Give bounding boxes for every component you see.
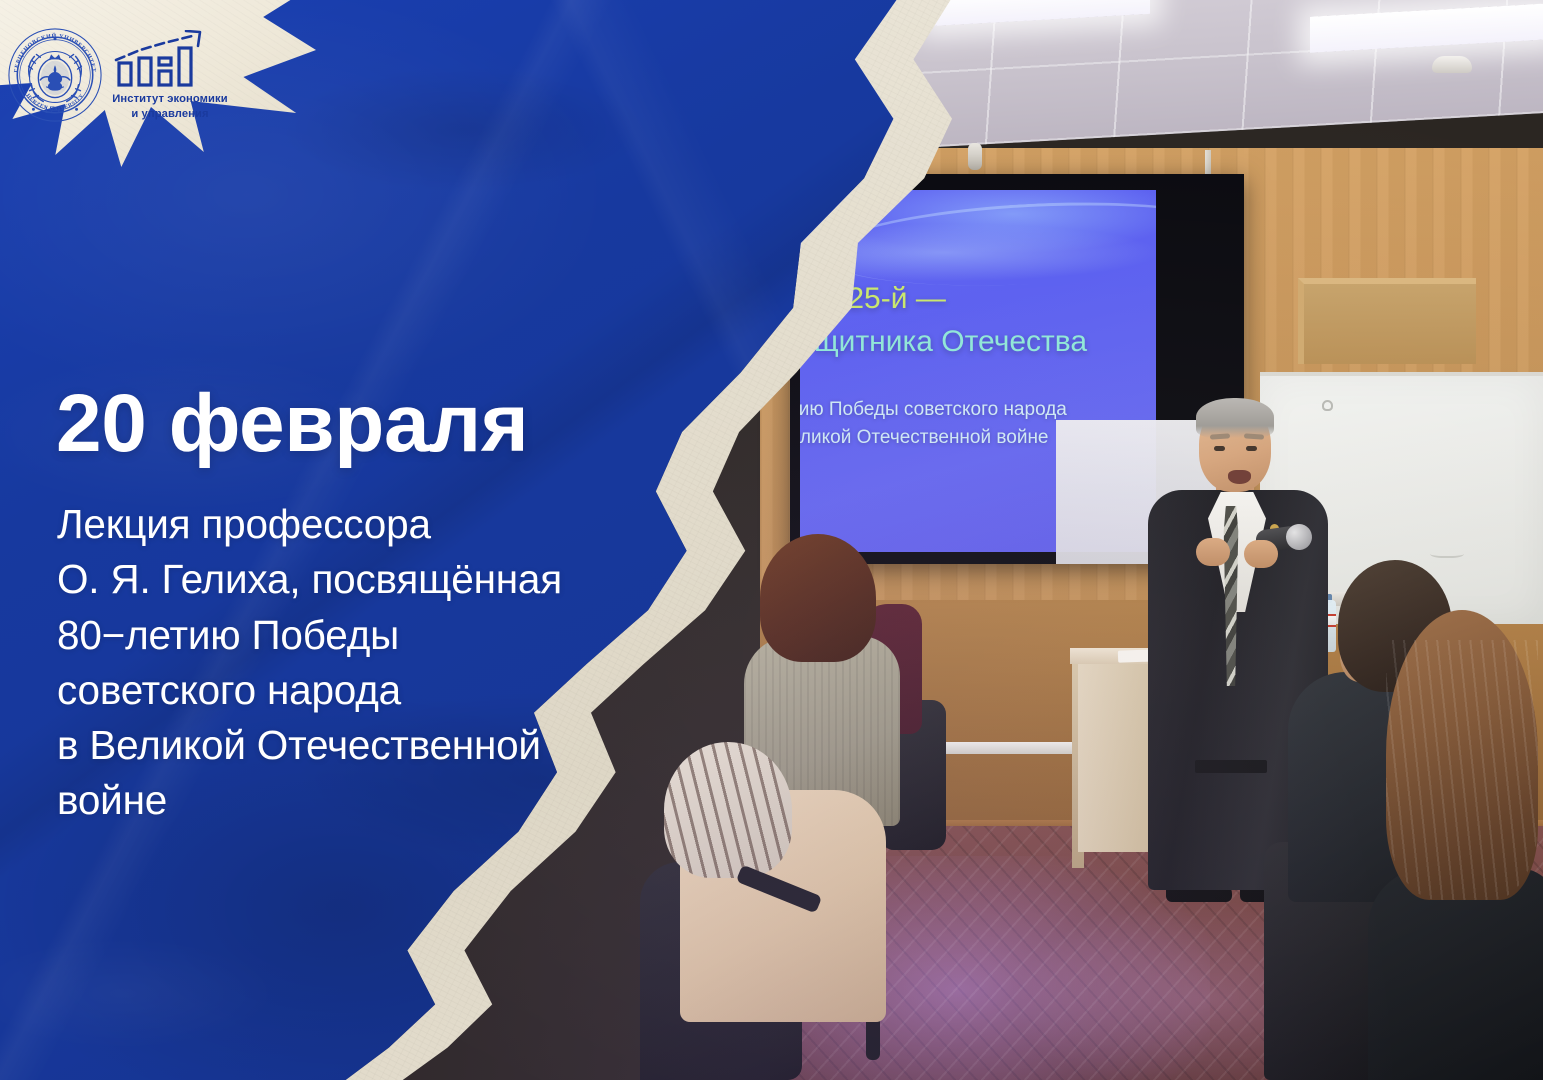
audience-member-head <box>760 534 876 662</box>
whiteboard-smudge <box>1322 400 1333 411</box>
wall-sensor-icon <box>968 143 982 170</box>
speaker-eye <box>1214 446 1225 451</box>
event-description-line-3: 80−летию Победы <box>57 608 657 663</box>
institute-name-line-2: и управления <box>100 107 240 122</box>
slide-title: 2025-й — щитника Отечества <box>814 278 1156 363</box>
audience-member-head <box>664 742 792 878</box>
institute-chart-arrow-icon <box>112 30 228 90</box>
poster-root: 2025-й — щитника Отечества тию Победы со… <box>0 0 1543 1080</box>
speaker-mouth <box>1228 470 1251 484</box>
audience-member-hair-strands <box>1386 640 1538 900</box>
ceiling-dome-lamp-icon <box>1432 56 1472 73</box>
event-description-line-4: советского народа <box>57 663 657 718</box>
speaker-eye <box>1246 446 1257 451</box>
speaker-hand <box>1196 538 1230 566</box>
wall-niche <box>1298 278 1476 364</box>
herzen-university-seal-icon: ГЕРЦЕНОВСКИЙ УНИВЕРСИТЕТ HERZEN UNIVERSI… <box>6 26 104 124</box>
whiteboard-smudge <box>1430 548 1464 558</box>
institute-name-line-1: Институт экономики <box>100 92 240 107</box>
slide-title-line2: щитника Отечества <box>814 321 1156 364</box>
slide-title-line1: 2025-й — <box>814 278 1156 321</box>
event-description-line-1: Лекция профессора <box>57 497 657 552</box>
speaker-hand <box>1244 540 1278 568</box>
event-description: Лекция профессора О. Я. Гелиха, посвящён… <box>57 497 657 829</box>
institute-name: Институт экономики и управления <box>100 92 240 122</box>
svg-text:1797: 1797 <box>44 105 66 116</box>
event-description-line-6: войне <box>57 773 657 828</box>
speaker-hair <box>1196 398 1274 438</box>
event-description-line-2: О. Я. Гелиха, посвящённая <box>57 552 657 607</box>
event-description-line-5: в Великой Отечественной <box>57 718 657 773</box>
speaker-belt <box>1195 760 1267 773</box>
page-title: 20 февраля <box>56 383 528 465</box>
